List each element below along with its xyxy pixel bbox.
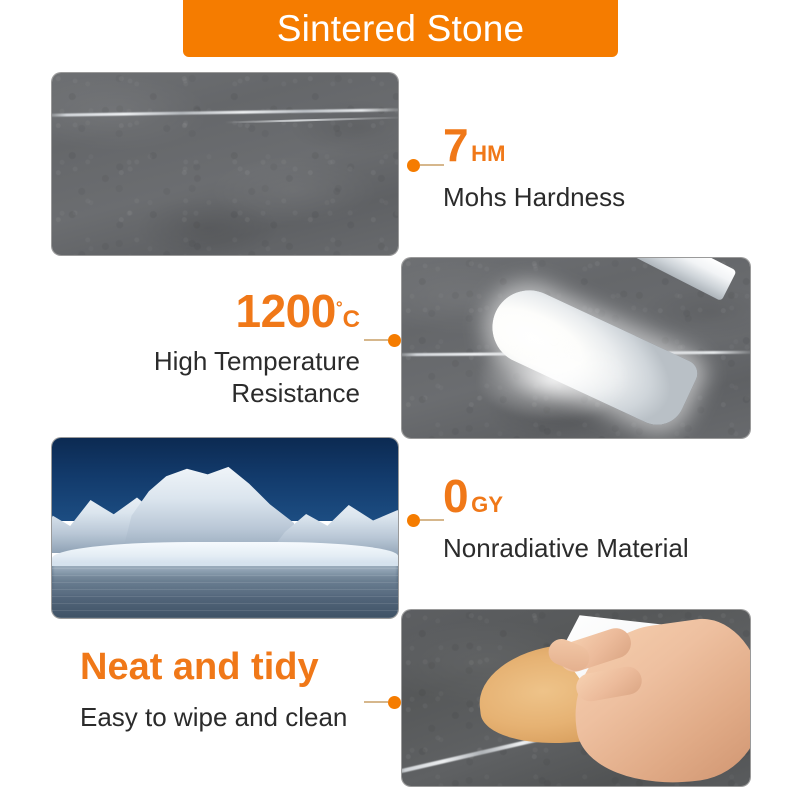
bullet-dot-icon bbox=[388, 696, 401, 709]
connector-radiation bbox=[407, 513, 444, 527]
lead-line bbox=[364, 701, 388, 703]
temperature-description-line2: Resistance bbox=[96, 378, 360, 410]
wipe-image bbox=[402, 610, 750, 786]
glacier-image bbox=[52, 438, 398, 618]
temperature-metric: 1200°C bbox=[96, 288, 360, 334]
connector-temperature bbox=[364, 333, 401, 347]
radiation-description: Nonradiative Material bbox=[443, 533, 689, 565]
torch-glow bbox=[479, 339, 629, 419]
temperature-unit: C bbox=[343, 306, 360, 333]
radiation-metric: 0GY bbox=[443, 473, 689, 519]
bullet-dot-icon bbox=[407, 514, 420, 527]
torch-image bbox=[402, 258, 750, 438]
page-title: Sintered Stone bbox=[277, 10, 525, 47]
tidy-headline: Neat and tidy bbox=[80, 648, 362, 686]
lead-line bbox=[364, 339, 388, 341]
lead-line bbox=[420, 519, 444, 521]
hardness-value: 7 bbox=[443, 119, 468, 171]
feature-radiation: 0GY Nonradiative Material bbox=[443, 473, 689, 565]
panel-stone-slab bbox=[52, 73, 398, 255]
slab-image bbox=[52, 73, 398, 255]
radiation-value: 0 bbox=[443, 470, 468, 522]
feature-tidy: Neat and tidy Easy to wipe and clean bbox=[80, 648, 362, 734]
panel-glacier bbox=[52, 438, 398, 618]
hardness-description: Mohs Hardness bbox=[443, 182, 625, 214]
lead-line bbox=[420, 164, 444, 166]
feature-hardness: 7HM Mohs Hardness bbox=[443, 122, 625, 214]
hardness-metric: 7HM bbox=[443, 122, 625, 168]
degree-symbol-icon: ° bbox=[336, 298, 343, 317]
temperature-value: 1200 bbox=[236, 285, 336, 337]
connector-hardness bbox=[407, 158, 444, 172]
bullet-dot-icon bbox=[407, 159, 420, 172]
radiation-unit: GY bbox=[471, 492, 503, 517]
panel-heat-test bbox=[402, 258, 750, 438]
feature-temperature: 1200°C High Temperature Resistance bbox=[96, 288, 360, 409]
panel-easy-clean bbox=[402, 610, 750, 786]
bullet-dot-icon bbox=[388, 334, 401, 347]
ice-shelf bbox=[52, 542, 398, 565]
water-ripples bbox=[52, 568, 398, 618]
connector-tidy bbox=[364, 695, 401, 709]
title-banner: Sintered Stone bbox=[183, 0, 618, 57]
temperature-description: High Temperature Resistance bbox=[96, 346, 360, 409]
temperature-description-line1: High Temperature bbox=[96, 346, 360, 378]
hardness-unit: HM bbox=[471, 141, 506, 166]
stone-mottle-overlay bbox=[52, 73, 398, 255]
tidy-description: Easy to wipe and clean bbox=[80, 702, 362, 734]
